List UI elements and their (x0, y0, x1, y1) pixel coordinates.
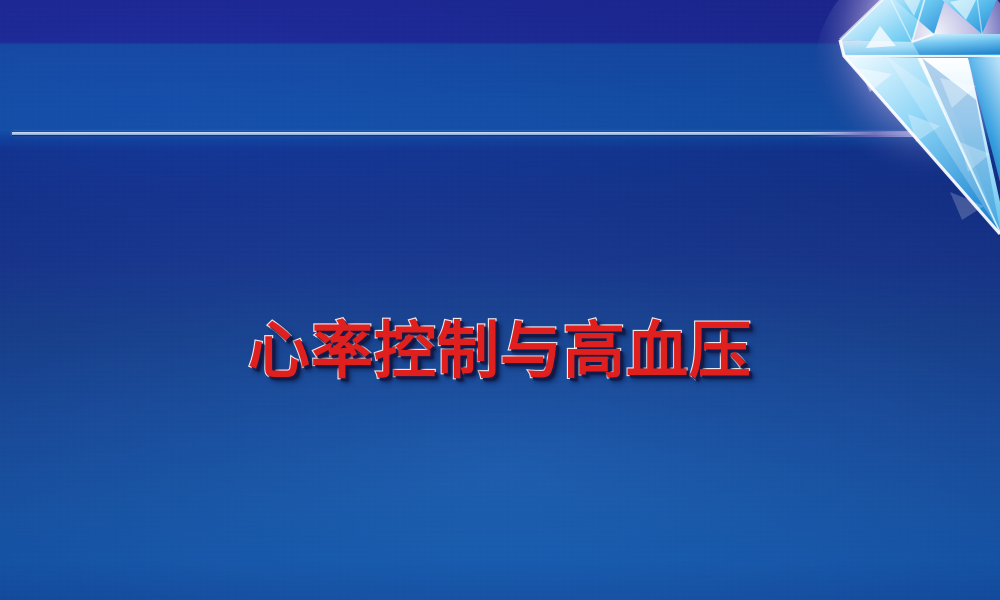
slide-title: 心率控制与高血压 (248, 318, 752, 385)
presentation-slide: 心率控制与高血压 (0, 0, 1000, 600)
slide-background (0, 0, 1000, 600)
slide-title-block: 心率控制与高血压 (0, 318, 1000, 385)
